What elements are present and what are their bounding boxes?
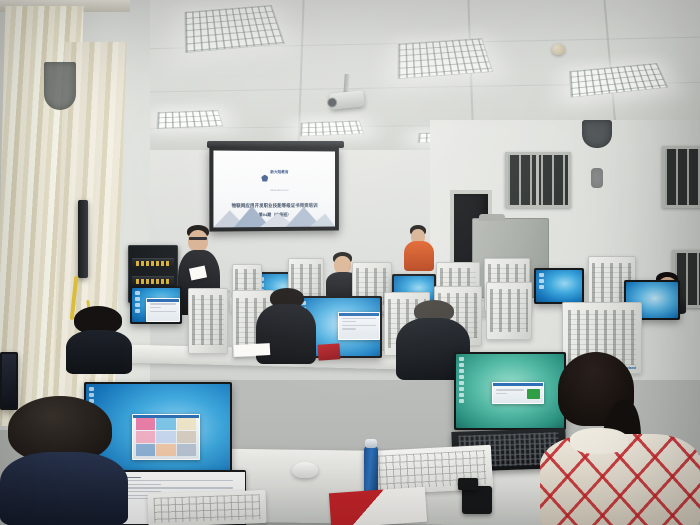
tower-mid-5	[486, 282, 532, 340]
ceiling-light-2	[398, 38, 494, 79]
presentation-slide: 新大陆教育 NEWLAND EDU 物联网应用开发职业技能等级证书师资培训 第0…	[213, 151, 335, 228]
ceiling-light-5	[299, 120, 364, 136]
window-left	[505, 152, 571, 208]
desktop-icons	[135, 291, 140, 313]
brand-mark-icon	[261, 174, 268, 181]
power-adapter-plug	[458, 478, 478, 490]
presenter-glasses-icon	[189, 237, 207, 240]
attendee-fg-right	[540, 352, 700, 525]
monitor-screen	[132, 288, 180, 322]
monitor-back-right[interactable]	[534, 268, 584, 304]
browser-thumbnails	[136, 418, 196, 456]
attendee-back-right-orange	[404, 225, 434, 269]
bottle-cap	[365, 439, 377, 448]
slide-logo-subtext: NEWLAND EDU	[270, 190, 288, 192]
projection-screen: 新大陆教育 NEWLAND EDU 物联网应用开发职业技能等级证书师资培训 第0…	[209, 146, 339, 231]
keyboard-keys[interactable]	[153, 494, 260, 523]
wall-speaker-right	[582, 120, 612, 148]
desktop-icons	[459, 357, 464, 403]
desk-paper-left	[234, 343, 271, 357]
browser-window[interactable]	[132, 414, 200, 460]
slide-decoration-graphic	[213, 201, 335, 228]
wall-tv-left	[78, 200, 88, 278]
presenter-head	[188, 230, 208, 252]
attendee-torso	[0, 452, 128, 525]
window-right	[662, 146, 700, 208]
computer-mouse[interactable]	[292, 462, 318, 478]
attendee-torso	[66, 330, 132, 374]
attendee-upper-left	[66, 306, 132, 370]
monitor-screen	[2, 354, 16, 408]
dialog-accent	[527, 389, 540, 399]
attendee-fg-left	[0, 396, 128, 525]
monitor-screen	[536, 270, 582, 302]
classroom-photo: 新大陆教育 NEWLAND EDU 物联网应用开发职业技能等级证书师资培训 第0…	[0, 0, 700, 525]
desktop-icons	[539, 273, 544, 289]
desktop-window[interactable]	[146, 298, 180, 322]
handout-papers[interactable]	[329, 487, 427, 525]
slide-logo: 新大陆教育 NEWLAND EDU	[261, 160, 288, 196]
ceiling-light-4	[156, 110, 223, 129]
keyboard-front-left[interactable]	[147, 490, 266, 525]
small-red-box	[317, 343, 340, 360]
projector-lens	[327, 97, 338, 108]
monitor-edge-left[interactable]	[0, 352, 18, 410]
ceiling-dome-sensor	[552, 44, 565, 55]
wall-speaker-far-right	[591, 168, 603, 188]
power-adapter[interactable]	[462, 486, 492, 514]
attendee-torso	[404, 241, 434, 271]
slide-logo-text: 新大陆教育	[270, 170, 288, 174]
left-wall-speaker	[44, 62, 76, 110]
tower-mid-1	[188, 288, 228, 354]
monitor-mid-left[interactable]	[130, 286, 182, 324]
attendee-collar	[570, 428, 628, 454]
desktop-window[interactable]	[338, 312, 380, 340]
desktop-dialog[interactable]	[492, 382, 544, 404]
